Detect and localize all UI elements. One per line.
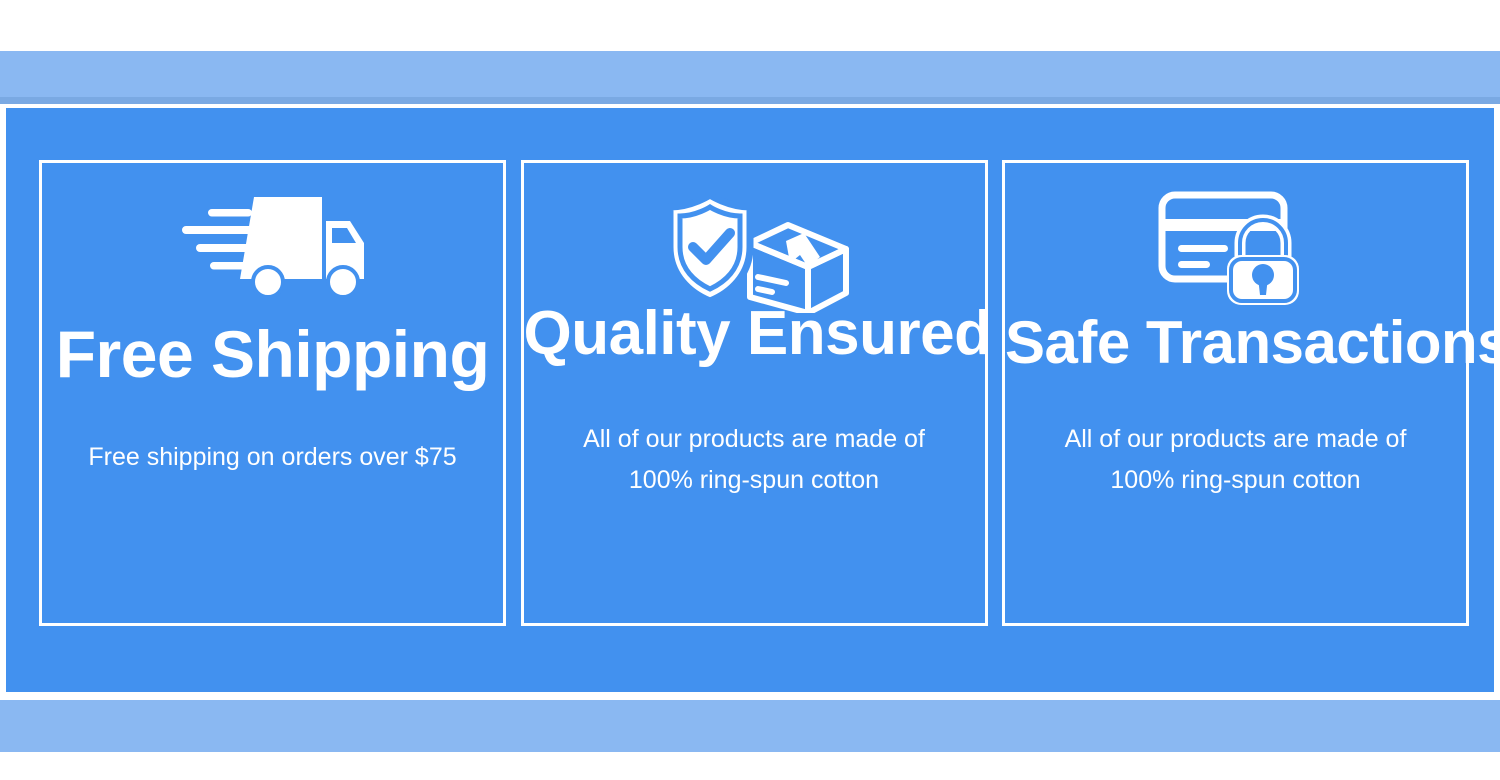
feature-card-description: Free shipping on orders over $75: [76, 437, 469, 478]
feature-card-safe-transactions[interactable]: Safe Transactions All of our products ar…: [1002, 160, 1469, 626]
credit-card-lock-icon: [1005, 187, 1466, 307]
feature-card-quality-ensured[interactable]: Quality Ensured All of our products are …: [521, 160, 988, 626]
top-band-divider: [0, 97, 1500, 104]
delivery-truck-icon: [42, 187, 503, 307]
feature-card-description: All of our products are made of 100% rin…: [558, 419, 951, 500]
banner-panel-frame: Free Shipping Free shipping on orders ov…: [0, 104, 1500, 696]
bottom-decorative-band: [0, 700, 1500, 752]
feature-card-free-shipping[interactable]: Free Shipping Free shipping on orders ov…: [39, 160, 506, 626]
banner-panel: Free Shipping Free shipping on orders ov…: [6, 108, 1494, 692]
trust-badges-banner: Free Shipping Free shipping on orders ov…: [0, 0, 1500, 780]
feature-card-row: Free Shipping Free shipping on orders ov…: [39, 160, 1469, 626]
feature-card-title: Free Shipping: [42, 321, 503, 387]
feature-card-title: Quality Ensured: [524, 303, 985, 365]
feature-card-title: Safe Transactions: [1005, 313, 1466, 373]
shield-check-box-icon: [524, 187, 985, 307]
feature-card-description: All of our products are made of 100% rin…: [1039, 419, 1432, 500]
